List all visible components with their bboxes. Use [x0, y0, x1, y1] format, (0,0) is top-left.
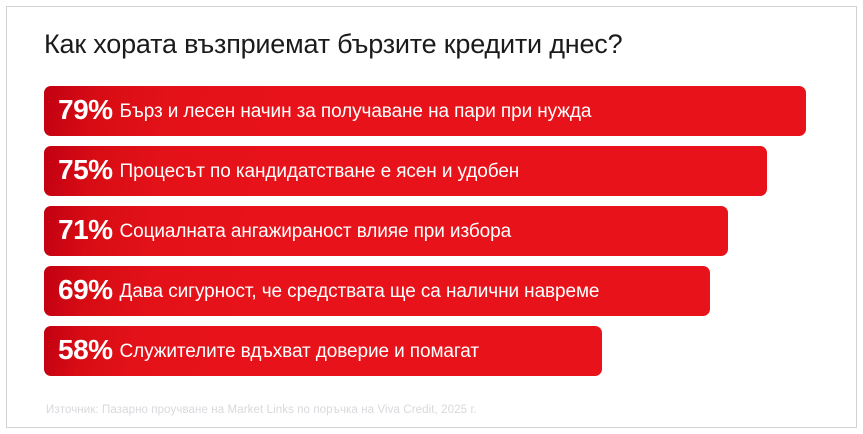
bar-category-label: Социалната ангажираност влияе при избора	[120, 222, 511, 241]
bar-71: 71% Социалната ангажираност влияе при из…	[44, 206, 728, 256]
bar-58: 58% Служителите вдъхват доверие и помага…	[44, 326, 602, 376]
bar-category-label: Процесът по кандидатстване е ясен и удоб…	[120, 162, 520, 181]
bar-69: 69% Дава сигурност, че средствата ще са …	[44, 266, 710, 316]
bar-category-label: Служителите вдъхват доверие и помагат	[120, 342, 479, 361]
bar-value-label: 75%	[58, 156, 113, 184]
bar-value-label: 69%	[58, 276, 113, 304]
table-row: 79% Бърз и лесен начин за получаване на …	[44, 86, 824, 136]
bar-category-label: Бърз и лесен начин за получаване на пари…	[120, 102, 592, 121]
bar-value-label: 79%	[58, 96, 113, 124]
page-title: Как хората възприемат бързите кредити дн…	[44, 27, 622, 61]
table-row: 75% Процесът по кандидатстване е ясен и …	[44, 146, 824, 196]
bar-75: 75% Процесът по кандидатстване е ясен и …	[44, 146, 767, 196]
table-row: 71% Социалната ангажираност влияе при из…	[44, 206, 824, 256]
bar-79: 79% Бърз и лесен начин за получаване на …	[44, 86, 806, 136]
bar-value-label: 71%	[58, 216, 113, 244]
table-row: 69% Дава сигурност, че средствата ще са …	[44, 266, 824, 316]
infographic-canvas: Как хората възприемат бързите кредити дн…	[0, 0, 863, 434]
source-note: Източник: Пазарно проучване на Market Li…	[46, 404, 477, 416]
bar-value-label: 58%	[58, 336, 113, 364]
table-row: 58% Служителите вдъхват доверие и помага…	[44, 326, 824, 376]
bar-category-label: Дава сигурност, че средствата ще са нали…	[120, 282, 600, 301]
bar-chart: 79% Бърз и лесен начин за получаване на …	[44, 86, 824, 386]
